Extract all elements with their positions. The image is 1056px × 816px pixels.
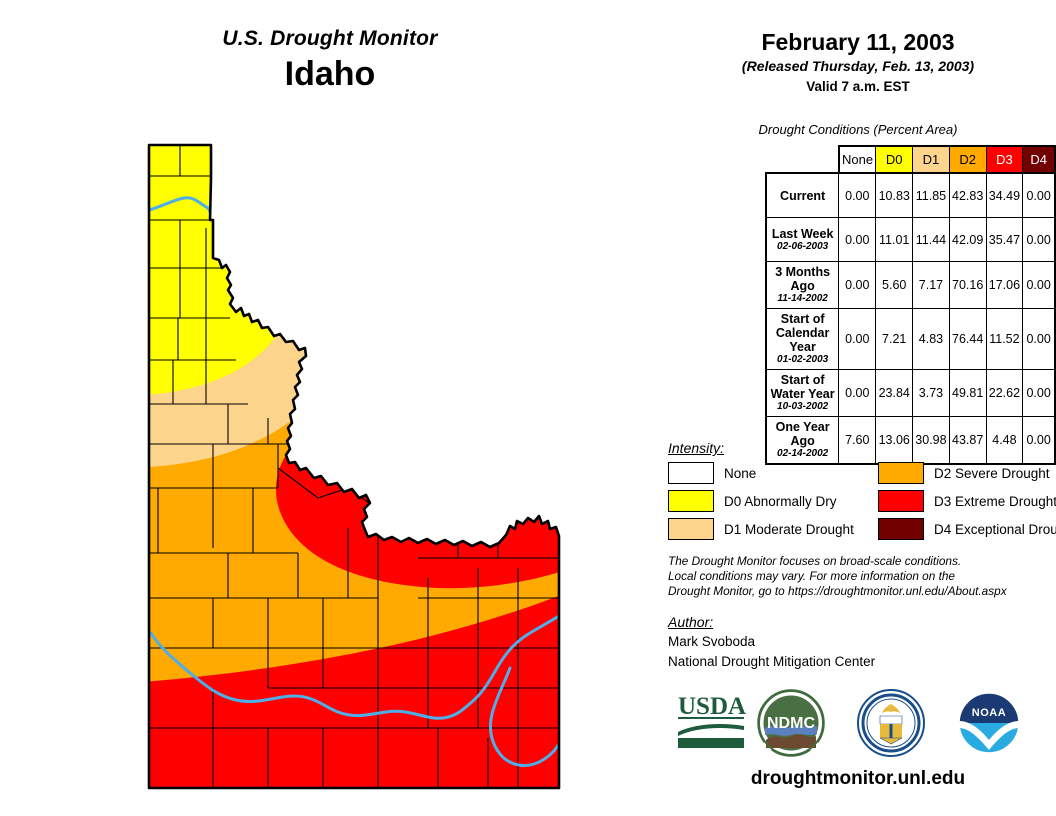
legend-swatch-none — [668, 462, 714, 484]
map-drought-regions — [118, 128, 598, 798]
legend-swatch-d0 — [668, 490, 714, 512]
legend-swatch-d2 — [878, 462, 924, 484]
legend-item-d2: D2 Severe Drought — [878, 462, 1056, 484]
legend-label-d3: D3 Extreme Drought — [934, 494, 1056, 509]
table-cell-d3: 22.62 — [986, 370, 1023, 417]
table-cell-d1: 11.44 — [913, 218, 950, 262]
valid-date: February 11, 2003 — [660, 28, 1056, 57]
legend-label-d2: D2 Severe Drought — [934, 466, 1050, 481]
table-column-header-d3: D3 — [986, 146, 1023, 173]
table-cell-d1: 4.83 — [913, 309, 950, 370]
map-title-block: U.S. Drought Monitor Idaho — [0, 26, 660, 95]
table-cell-none: 0.00 — [839, 370, 876, 417]
table-row-date: 10-03-2002 — [769, 401, 836, 413]
table-row: Current0.0010.8311.8542.8334.490.00 — [766, 173, 1055, 218]
table-cell-d0: 11.01 — [876, 218, 913, 262]
map-panel: U.S. Drought Monitor Idaho — [0, 0, 660, 816]
table-row: Start ofCalendar Year01-02-20030.007.214… — [766, 309, 1055, 370]
legend-label-d1: D1 Moderate Drought — [724, 522, 854, 537]
valid-time: Valid 7 a.m. EST — [660, 77, 1056, 96]
svg-text:USDA: USDA — [678, 693, 746, 720]
table-cell-d4: 0.00 — [1023, 218, 1055, 262]
table-cell-d1: 11.85 — [913, 173, 950, 218]
table-cell-d0: 10.83 — [876, 173, 913, 218]
program-title: U.S. Drought Monitor — [0, 26, 660, 52]
ndmc-logo: NDMC — [756, 688, 826, 763]
table-cell-d2: 76.44 — [949, 309, 986, 370]
table-row-date: 01-02-2003 — [769, 354, 836, 366]
notes-line-1: The Drought Monitor focuses on broad-sca… — [668, 554, 1056, 569]
table-row: 3 Months Ago11-14-20020.005.607.1770.161… — [766, 262, 1055, 309]
table-cell-none: 0.00 — [839, 309, 876, 370]
table-cell-d4: 0.00 — [1023, 173, 1055, 218]
table-cell-d0: 23.84 — [876, 370, 913, 417]
date-block: February 11, 2003 (Released Thursday, Fe… — [660, 28, 1056, 96]
table-row: Start ofWater Year10-03-20020.0023.843.7… — [766, 370, 1055, 417]
table-column-header-d1: D1 — [913, 146, 950, 173]
author-label: Author: — [668, 612, 1056, 632]
table-cell-d1: 3.73 — [913, 370, 950, 417]
table-cell-none: 0.00 — [839, 218, 876, 262]
table-column-header-none: None — [839, 146, 876, 173]
table-cell-d2: 70.16 — [949, 262, 986, 309]
table-cell-d2: 42.09 — [949, 218, 986, 262]
table-caption: Drought Conditions (Percent Area) — [660, 122, 1056, 137]
legend-swatch-d3 — [878, 490, 924, 512]
table-cell-d3: 34.49 — [986, 173, 1023, 218]
region-d3-extreme-central — [276, 399, 598, 588]
legend-item-none: None — [668, 462, 878, 484]
table-cell-d0: 5.60 — [876, 262, 913, 309]
us-department-of-commerce-seal — [856, 688, 926, 763]
table-row-label: Start ofCalendar Year01-02-2003 — [766, 309, 839, 370]
legend-title: Intensity: — [668, 440, 1056, 456]
table-cell-d2: 42.83 — [949, 173, 986, 218]
table-cell-d1: 7.17 — [913, 262, 950, 309]
notes-line-2: Local conditions may vary. For more info… — [668, 569, 1056, 584]
legend-item-d4: D4 Exceptional Drought — [878, 518, 1056, 540]
table-corner-cell — [766, 146, 839, 173]
table-cell-d0: 7.21 — [876, 309, 913, 370]
site-url: droughtmonitor.unl.edu — [660, 768, 1056, 790]
table-cell-d3: 17.06 — [986, 262, 1023, 309]
table-header: NoneD0D1D2D3D4 — [766, 146, 1055, 173]
legend-label-none: None — [724, 466, 756, 481]
author-organization: National Drought Mitigation Center — [668, 652, 1056, 672]
intensity-legend: Intensity: NoneD2 Severe DroughtD0 Abnor… — [668, 440, 1056, 540]
table-row-label: Current — [766, 173, 839, 218]
table-cell-none: 0.00 — [839, 262, 876, 309]
svg-text:NDMC: NDMC — [767, 715, 815, 732]
noaa-logo: NOAA — [954, 688, 1024, 763]
state-title: Idaho — [0, 53, 660, 95]
table-column-header-d4: D4 — [1023, 146, 1055, 173]
table-row-date: 11-14-2002 — [769, 293, 836, 305]
legend-item-d0: D0 Abnormally Dry — [668, 490, 878, 512]
table-row-date: 02-06-2003 — [769, 241, 836, 253]
idaho-drought-map — [118, 128, 598, 798]
table-cell-d3: 35.47 — [986, 218, 1023, 262]
legend-item-d3: D3 Extreme Drought — [878, 490, 1056, 512]
legend-swatch-d4 — [878, 518, 924, 540]
table-row: Last Week02-06-20030.0011.0111.4442.0935… — [766, 218, 1055, 262]
notes-line-3: Drought Monitor, go to https://droughtmo… — [668, 584, 1056, 599]
usda-logo: USDA — [676, 688, 748, 755]
table-row-label: Start ofWater Year10-03-2002 — [766, 370, 839, 417]
svg-text:NOAA: NOAA — [972, 707, 1006, 719]
table-row-label: 3 Months Ago11-14-2002 — [766, 262, 839, 309]
author-block: Author: Mark Svoboda National Drought Mi… — [668, 612, 1056, 672]
released-date: (Released Thursday, Feb. 13, 2003) — [660, 57, 1056, 76]
table-body: Current0.0010.8311.8542.8334.490.00Last … — [766, 173, 1055, 464]
table-cell-d4: 0.00 — [1023, 262, 1055, 309]
table-row-label: Last Week02-06-2003 — [766, 218, 839, 262]
drought-conditions-table: NoneD0D1D2D3D4 Current0.0010.8311.8542.8… — [765, 145, 1056, 465]
table-cell-d2: 49.81 — [949, 370, 986, 417]
partner-logos: USDA NDMC — [668, 688, 1056, 758]
table-header-row: NoneD0D1D2D3D4 — [766, 146, 1055, 173]
legend-label-d0: D0 Abnormally Dry — [724, 494, 837, 509]
disclaimer-notes: The Drought Monitor focuses on broad-sca… — [668, 554, 1056, 599]
table-column-header-d0: D0 — [876, 146, 913, 173]
table-cell-none: 0.00 — [839, 173, 876, 218]
table-cell-d3: 11.52 — [986, 309, 1023, 370]
table-cell-d4: 0.00 — [1023, 370, 1055, 417]
legend-swatch-d1 — [668, 518, 714, 540]
legend-item-d1: D1 Moderate Drought — [668, 518, 878, 540]
legend-label-d4: D4 Exceptional Drought — [934, 522, 1056, 537]
author-name: Mark Svoboda — [668, 632, 1056, 652]
table-column-header-d2: D2 — [949, 146, 986, 173]
table-cell-d4: 0.00 — [1023, 309, 1055, 370]
legend-grid: NoneD2 Severe DroughtD0 Abnormally DryD3… — [668, 462, 1056, 540]
